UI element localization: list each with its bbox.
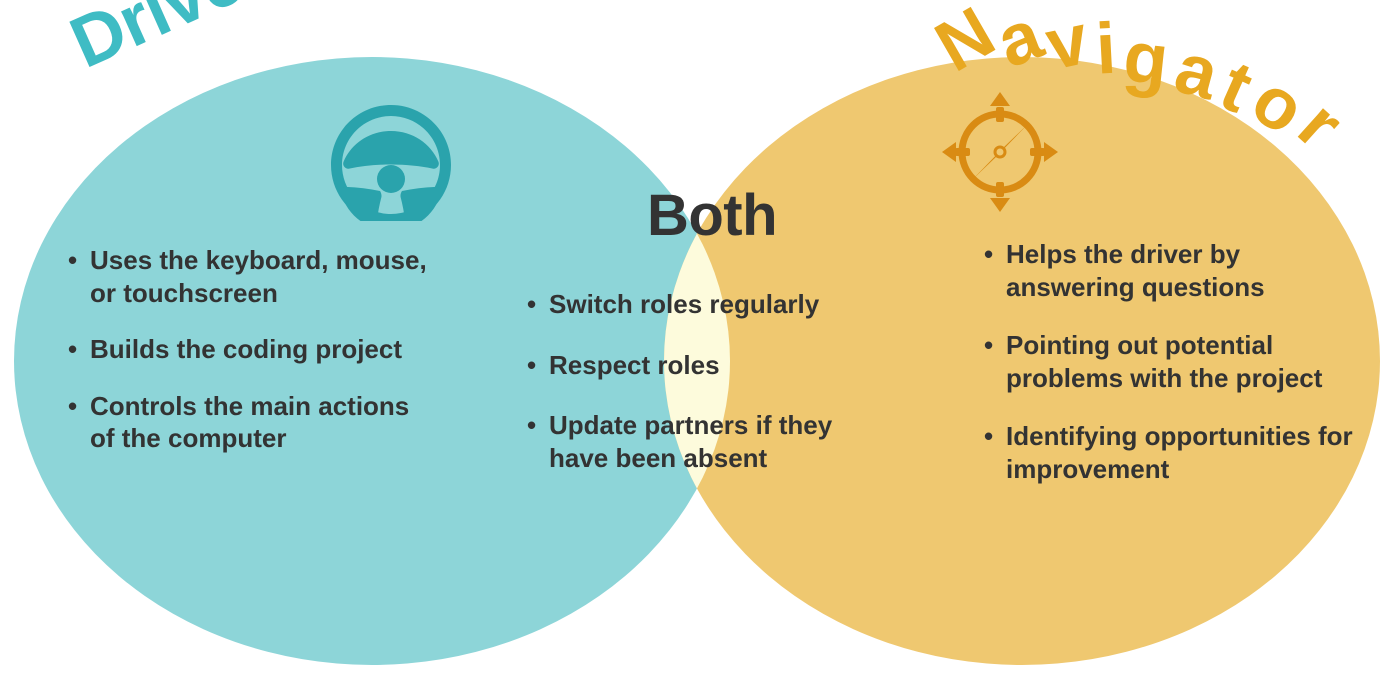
list-item-label: Uses the keyboard, mouse, or touchscreen: [90, 245, 427, 308]
list-item: • Helps the driver by answering question…: [984, 238, 1364, 303]
bullet-icon: •: [68, 244, 77, 277]
center-bullet-list: • Switch roles regularly • Respect roles…: [527, 288, 897, 474]
center-title: Both: [527, 187, 897, 245]
list-item-label: Pointing out potential problems with the…: [1006, 330, 1322, 393]
list-item-label: Identifying opportunities for improvemen…: [1006, 421, 1353, 484]
list-item-label: Builds the coding project: [90, 334, 402, 364]
list-item-label: Update partners if they have been absent: [549, 410, 832, 473]
center-content: • Switch roles regularly • Respect roles…: [527, 288, 897, 502]
bullet-icon: •: [527, 349, 536, 382]
bullet-icon: •: [68, 390, 77, 423]
list-item: • Builds the coding project: [68, 333, 438, 366]
list-item: • Identifying opportunities for improvem…: [984, 420, 1364, 485]
compass-icon: [940, 90, 1060, 215]
left-content: • Uses the keyboard, mouse, or touchscre…: [68, 244, 438, 455]
right-content: • Helps the driver by answering question…: [984, 238, 1364, 511]
venn-diagram: Driver Navigator: [0, 0, 1396, 674]
list-item-label: Respect roles: [549, 350, 720, 380]
bullet-icon: •: [984, 420, 993, 453]
right-title-letter: i: [1094, 13, 1117, 86]
list-item: • Update partners if they have been abse…: [527, 409, 897, 474]
right-bullet-list: • Helps the driver by answering question…: [984, 238, 1364, 485]
bullet-icon: •: [984, 238, 993, 271]
list-item: • Pointing out potential problems with t…: [984, 329, 1364, 394]
bullet-icon: •: [527, 288, 536, 321]
left-bullet-list: • Uses the keyboard, mouse, or touchscre…: [68, 244, 438, 455]
bullet-icon: •: [68, 333, 77, 366]
list-item: • Uses the keyboard, mouse, or touchscre…: [68, 244, 438, 309]
list-item-label: Helps the driver by answering questions: [1006, 239, 1265, 302]
bullet-icon: •: [984, 329, 993, 362]
list-item: • Switch roles regularly: [527, 288, 897, 321]
steering-wheel-icon: [327, 103, 455, 221]
bullet-icon: •: [527, 409, 536, 442]
right-title: Navigator: [968, 0, 1296, 68]
list-item: • Respect roles: [527, 349, 897, 382]
list-item-label: Switch roles regularly: [549, 289, 819, 319]
list-item-label: Controls the main actions of the compute…: [90, 391, 409, 454]
list-item: • Controls the main actions of the compu…: [68, 390, 438, 455]
right-title-letter: g: [1120, 21, 1171, 97]
